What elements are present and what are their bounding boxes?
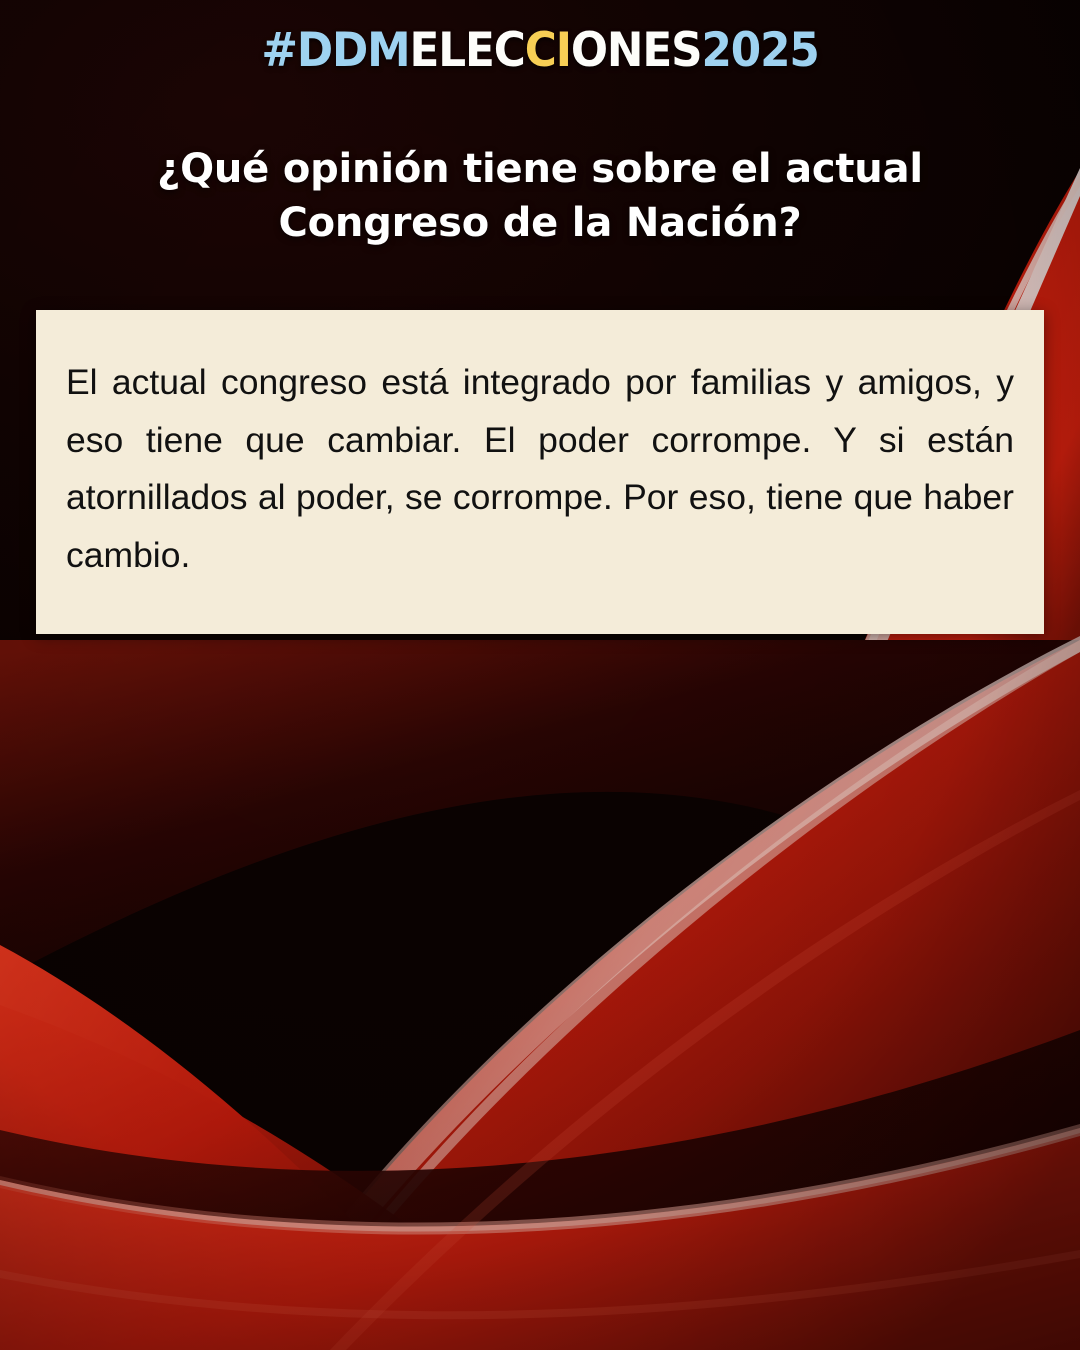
- question-line-2: Congreso de la Nación?: [70, 197, 1010, 251]
- quote-text: El actual congreso está integrado por fa…: [66, 354, 1014, 642]
- hashtag-segment-elec: ELEC: [410, 23, 525, 78]
- hashtag-segment-ci: CI: [525, 23, 571, 78]
- hashtag-segment-ddm: #DDM: [261, 23, 409, 78]
- question-heading: ¿Qué opinión tiene sobre el actual Congr…: [70, 143, 1010, 250]
- hashtag-segment-2025: 2025: [701, 23, 818, 78]
- quote-card: El actual congreso está integrado por fa…: [36, 310, 1044, 634]
- question-line-1: ¿Qué opinión tiene sobre el actual: [70, 143, 1010, 197]
- hashtag-wordmark: #DDMELECCIONES2025: [38, 27, 1042, 74]
- social-card: #DDMELECCIONES2025 ¿Qué opinión tiene so…: [0, 0, 1080, 1350]
- hashtag-segment-ones: ONES: [571, 23, 702, 78]
